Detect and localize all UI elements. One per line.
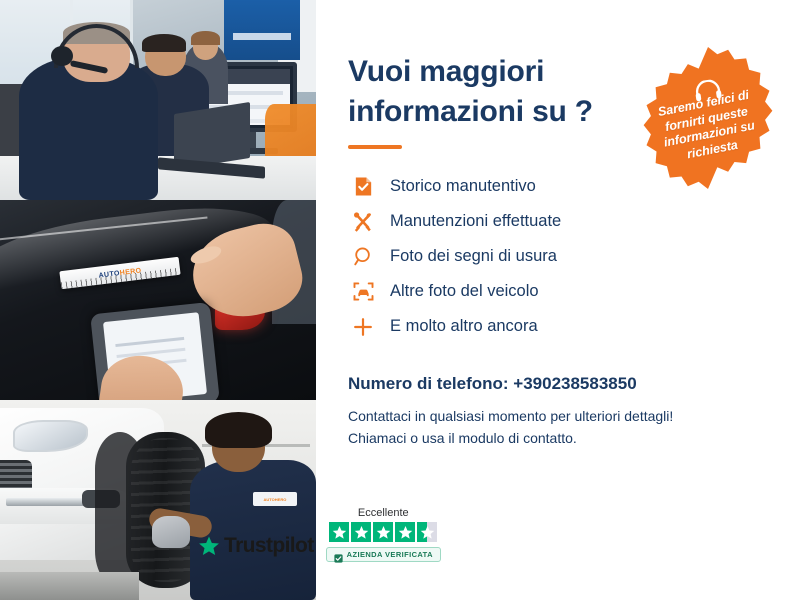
background-agent-two-hair bbox=[191, 31, 219, 45]
trustpilot-widget[interactable]: Trustpilot Eccellente AZIENDA VERIFICATA bbox=[198, 507, 441, 562]
title-underline bbox=[348, 145, 402, 149]
star-filled bbox=[351, 522, 371, 542]
star-filled bbox=[395, 522, 415, 542]
star-filled bbox=[373, 522, 393, 542]
verified-label: AZIENDA VERIFICATA bbox=[347, 550, 433, 559]
trustpilot-logo: Trustpilot bbox=[198, 534, 314, 562]
availability-badge: Saremo felici di fornirti queste informa… bbox=[634, 44, 782, 192]
list-item-label: Altre foto del veicolo bbox=[390, 283, 539, 300]
trustpilot-rating: Eccellente AZIENDA VERIFICATA bbox=[326, 507, 441, 562]
feature-list: Storico manutentivo Manutenzi bbox=[348, 169, 764, 344]
contact-line-2: Chiamaci o usa il modulo di contatto. bbox=[348, 428, 764, 450]
star-filled bbox=[329, 522, 349, 542]
star-rating bbox=[329, 522, 437, 542]
promo-card: AUTOHERO AUTOHERO bbox=[0, 0, 800, 600]
star-half bbox=[417, 522, 437, 542]
car-scan-icon bbox=[348, 277, 378, 307]
blue-wall-poster bbox=[224, 0, 300, 60]
tire-inspection-photo: AUTOHERO bbox=[0, 400, 316, 600]
list-item-label: E molto altro ancora bbox=[390, 318, 538, 335]
contact-instructions: Contattaci in qualsiasi momento per ulte… bbox=[348, 406, 764, 449]
tools-icon bbox=[348, 207, 378, 237]
list-item-label: Storico manutentivo bbox=[390, 178, 536, 195]
trustpilot-star-icon bbox=[198, 535, 220, 557]
verified-check-icon bbox=[334, 550, 343, 559]
verified-business-badge: AZIENDA VERIFICATA bbox=[326, 547, 441, 562]
phone-number: Numero di telefono: +390238583850 bbox=[348, 374, 764, 394]
rating-label: Eccellente bbox=[358, 507, 409, 519]
list-item: E molto altro ancora bbox=[348, 309, 764, 344]
document-check-icon bbox=[348, 172, 378, 202]
list-item: Manutenzioni effettuate bbox=[348, 204, 764, 239]
list-item-label: Foto dei segni di usura bbox=[390, 248, 557, 265]
mechanic-glove bbox=[152, 516, 190, 548]
inspection-ruler-photo: AUTOHERO bbox=[0, 200, 316, 400]
plus-icon bbox=[348, 312, 378, 342]
call-center-photo bbox=[0, 0, 316, 200]
list-item-label: Manutenzioni effettuate bbox=[390, 213, 561, 230]
contact-line-1: Contattaci in qualsiasi momento per ulte… bbox=[348, 406, 764, 428]
page-title: Vuoi maggiori informazioni su ? bbox=[348, 52, 618, 131]
list-item: Foto dei segni di usura bbox=[348, 239, 764, 274]
car-lift-platform bbox=[0, 572, 139, 600]
background-agent-one-hair bbox=[142, 34, 186, 52]
list-item: Altre foto del veicolo bbox=[348, 274, 764, 309]
mechanic-uniform-logo: AUTOHERO bbox=[253, 492, 297, 506]
mechanic-hair bbox=[205, 412, 271, 448]
trustpilot-wordmark: Trustpilot bbox=[224, 534, 314, 558]
magnifier-icon bbox=[348, 242, 378, 272]
